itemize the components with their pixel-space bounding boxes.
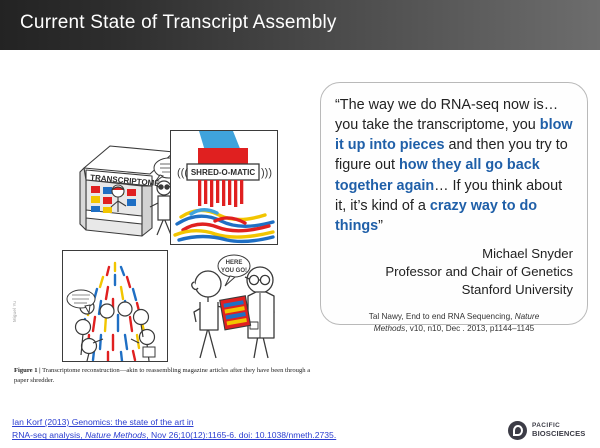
shredder-illustration: SHRED-O-MATIC ((( ))) [171,131,277,244]
quote-segment-0: “The way we do RNA-seq now is… you take … [335,97,558,133]
quote-segment-6: ” [378,218,383,234]
shredder-sound-left: ((( [177,167,188,179]
citation-line2-post: , Nov 26;10(12):1165-6. doi: 10.1038/nme… [146,430,336,440]
pacbio-wordmark: PACIFIC BIOSCIENCES [532,423,585,438]
citation-line-1[interactable]: Ian Korf (2013) Genomics: the state of t… [12,416,362,429]
attribution-name: Michael Snyder [335,245,573,263]
reference-line1-pre: Tal Nawy, End to end RNA Sequencing, [369,312,515,321]
quote-attribution: Michael Snyder Professor and Chair of Ge… [335,245,573,299]
figure-caption-label: Figure 1 | [14,367,41,374]
reference-line2-post: , v10, n10, Dec . 2013, p1144–1145 [405,324,534,333]
logo-line-2: BIOSCIENCES [532,430,585,438]
citation-line-2[interactable]: RNA-seq analysis, Nature Methods, Nov 26… [12,429,362,442]
reassembly-pile-illustration [63,251,167,361]
cartoon-panel-handoff: HERE YOU GO! [178,250,288,362]
shredder-machine-label: SHRED-O-MATIC [191,168,256,177]
reference-line2-italic: Methods [374,324,405,333]
reference-line1-italic: Nature [515,312,540,321]
figure-caption: Figure 1 | Transcriptome reconstruction—… [14,366,319,385]
quote-callout-box: “The way we do RNA-seq now is… you take … [320,82,588,325]
quote-text: “The way we do RNA-seq now is… you take … [335,95,573,236]
slide-header-bar: Current State of Transcript Assembly [0,0,600,50]
pacbio-mark-icon [508,421,527,440]
page-title: Current State of Transcript Assembly [20,12,337,34]
citation-line2-pre: RNA-seq analysis, [12,430,85,440]
source-citation-link[interactable]: Ian Korf (2013) Genomics: the state of t… [12,416,362,443]
handoff-illustration: HERE YOU GO! [178,250,288,362]
shredder-sound-right: ))) [261,167,272,179]
quote-source-reference: Tal Nawy, End to end RNA Sequencing, Nat… [335,311,573,335]
figure-caption-text: Transcriptome reconstruction—akin to rea… [14,367,310,384]
handoff-speech-line2: YOU GO! [221,268,247,274]
figure-credit-text: Miguel Yu [12,301,17,322]
handoff-speech-line1: HERE [226,260,243,266]
pacific-biosciences-logo: PACIFIC BIOSCIENCES [508,421,585,440]
cartoon-panel-reassembly-pile [62,250,168,362]
attribution-affiliation: Stanford University [335,281,573,299]
attribution-role: Professor and Chair of Genetics [335,263,573,281]
cartoon-panel-shredder: SHRED-O-MATIC ((( ))) [170,130,278,245]
figure-panel-group: Miguel Yu [14,100,324,390]
citation-journal-name: Nature Methods [85,430,146,440]
